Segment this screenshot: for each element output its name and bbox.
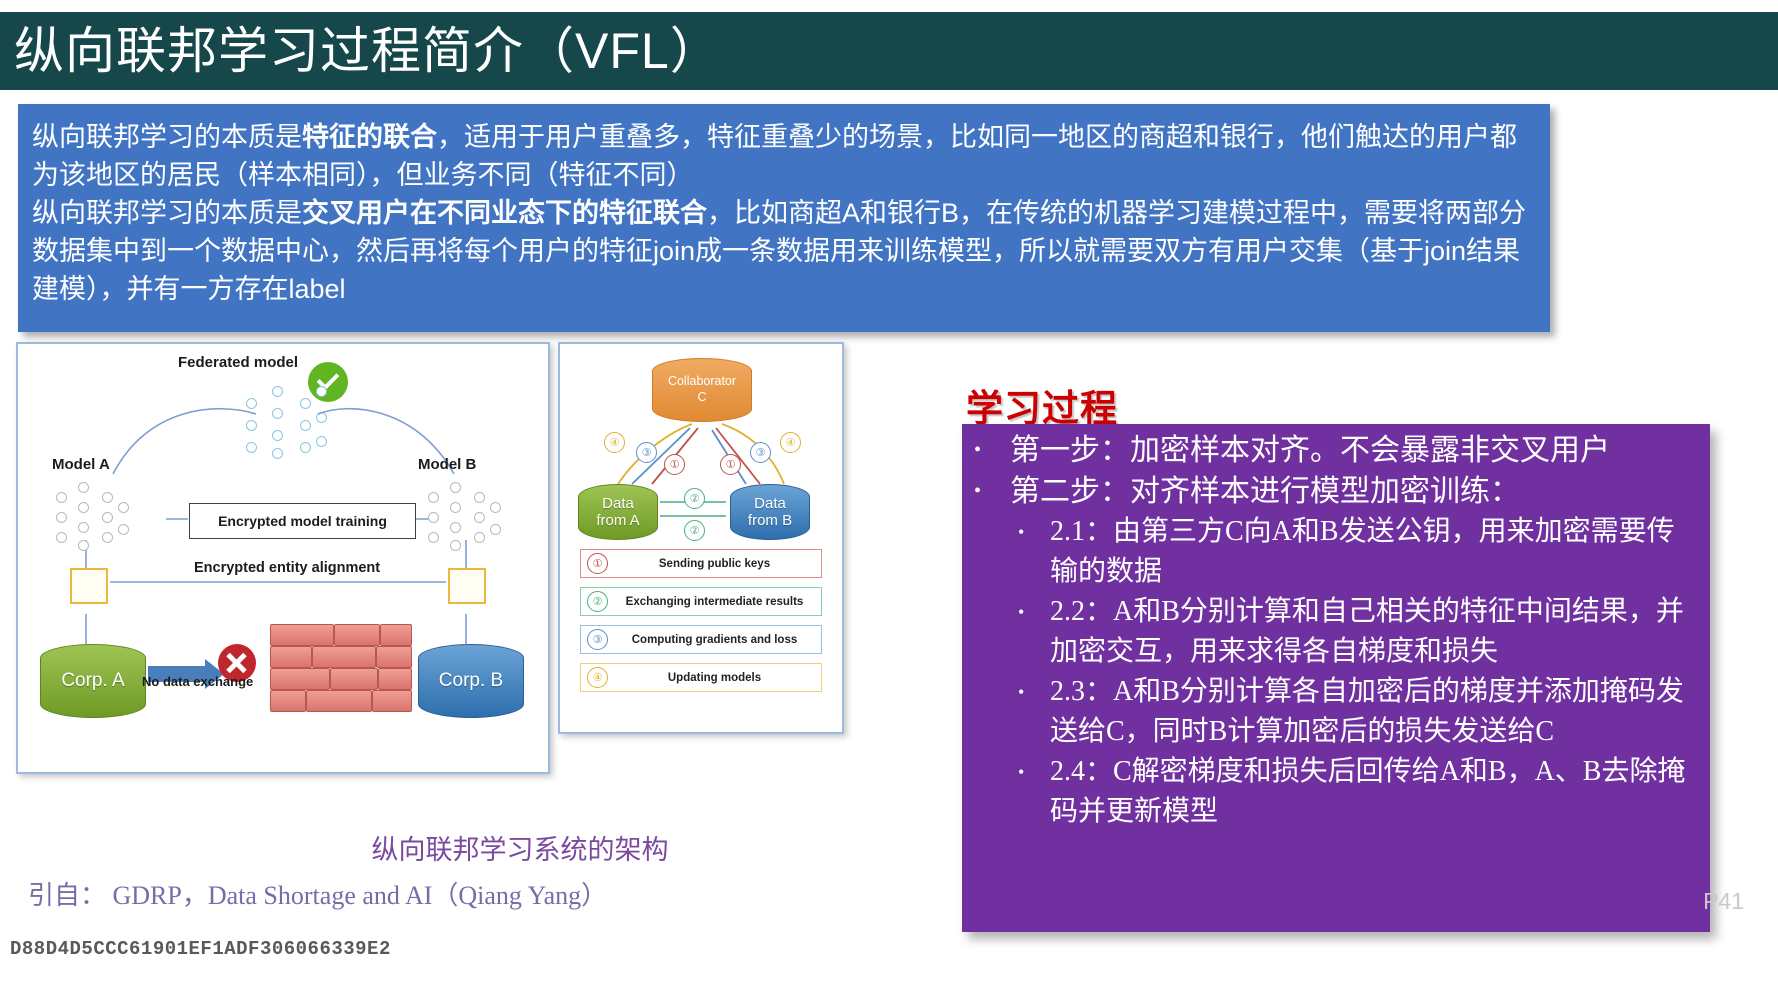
page-title: 纵向联邦学习过程简介（VFL）: [0, 26, 721, 76]
bullet-icon: •: [974, 430, 1010, 471]
model-a-network-icon: [56, 482, 130, 554]
data-from-b-icon: Data from B: [730, 484, 810, 540]
legend-row: ④ Updating models: [580, 663, 822, 692]
step-marker-4-right: ④: [780, 432, 801, 453]
summary-panel: 纵向联邦学习的本质是特征的联合，适用于用户重叠多，特征重叠少的场景，比如同一地区…: [18, 104, 1550, 332]
process-item-step2-3: • 2.3：A和B分别计算各自加密后的梯度并添加掩码发送给C，同时B计算加密后的…: [974, 672, 1698, 752]
model-a-label: Model A: [52, 456, 110, 473]
process-item-text: 2.1：由第三方C向A和B发送公钥，用来加密需要传输的数据: [1050, 512, 1698, 592]
learning-process-panel: • 第一步：加密样本对齐。不会暴露非交叉用户 • 第二步：对齐样本进行模型加密训…: [962, 424, 1710, 932]
corp-a-database-icon: Corp. A: [40, 644, 146, 718]
process-item-step2-1: • 2.1：由第三方C向A和B发送公钥，用来加密需要传输的数据: [974, 512, 1698, 592]
legend-marker-2: ②: [587, 591, 608, 612]
summary-line1-pre: 纵向联邦学习的本质是: [32, 122, 302, 152]
bullet-icon: •: [1018, 672, 1050, 752]
legend-text-2: Exchanging intermediate results: [608, 596, 821, 608]
step-marker-3-left: ③: [636, 442, 657, 463]
legend-row: ② Exchanging intermediate results: [580, 587, 822, 616]
figure-caption: 纵向联邦学习系统的架构: [310, 828, 730, 867]
vfl-protocol-figure: Collaborator C ④ ③ ① ① ③ ④ ② ② Data from…: [558, 342, 844, 734]
data-b-line-2: from B: [748, 512, 792, 529]
process-item-text: 第二步：对齐样本进行模型加密训练：: [1010, 471, 1520, 512]
step-marker-1-left: ①: [664, 454, 685, 475]
summary-line1-bold: 特征的联合: [302, 122, 437, 152]
step-marker-4-left: ④: [604, 432, 625, 453]
legend-row: ③ Computing gradients and loss: [580, 625, 822, 654]
bullet-icon: •: [1018, 512, 1050, 592]
step-marker-2-bottom: ②: [684, 520, 705, 541]
step-marker-2-top: ②: [684, 488, 705, 509]
slide-title-bar: 纵向联邦学习过程简介（VFL）: [0, 12, 1778, 90]
encrypted-model-training-box: Encrypted model training: [189, 503, 416, 539]
corp-b-database-icon: Corp. B: [418, 644, 524, 718]
step-marker-1-right: ①: [720, 454, 741, 475]
legend-text-4: Updating models: [608, 672, 821, 684]
process-item-step2-2: • 2.2：A和B分别计算和自己相关的特征中间结果，并加密交互，用来求得各自梯度…: [974, 592, 1698, 672]
bullet-icon: •: [1018, 592, 1050, 672]
process-item-text: 2.3：A和B分别计算各自加密后的梯度并添加掩码发送给C，同时B计算加密后的损失…: [1050, 672, 1698, 752]
data-a-line-1: Data: [602, 495, 634, 512]
page-number: P41: [1703, 888, 1744, 915]
process-item-step1: • 第一步：加密样本对齐。不会暴露非交叉用户: [974, 430, 1698, 471]
legend-marker-4: ④: [587, 667, 608, 688]
watermark-hash: D88D4D5CCC61901EF1ADF306066339E2: [10, 938, 391, 960]
no-data-exchange-label: No data exchange: [142, 674, 253, 689]
summary-line2-bold: 交叉用户在不同业态下的特征联合: [302, 198, 707, 228]
step-marker-3-right: ③: [750, 442, 771, 463]
process-item-text: 2.2：A和B分别计算和自己相关的特征中间结果，并加密交互，用来求得各自梯度和损…: [1050, 592, 1698, 672]
summary-paragraph-2: 纵向联邦学习的本质是交叉用户在不同业态下的特征联合，比如商超A和银行B，在传统的…: [18, 194, 1550, 308]
process-item-step2: • 第二步：对齐样本进行模型加密训练：: [974, 471, 1698, 512]
legend-marker-3: ③: [587, 629, 608, 650]
data-b-line-1: Data: [754, 495, 786, 512]
document-stack-icon-b: [448, 568, 486, 604]
document-stack-icon-a: [70, 568, 108, 604]
model-b-label: Model B: [418, 456, 476, 473]
data-from-a-icon: Data from A: [578, 484, 658, 540]
legend-text-3: Computing gradients and loss: [608, 634, 821, 646]
data-a-line-2: from A: [596, 512, 639, 529]
source-citation: 引自： GDRP，Data Shortage and AI（Qiang Yang…: [28, 875, 607, 912]
process-item-text: 第一步：加密样本对齐。不会暴露非交叉用户: [1010, 430, 1610, 471]
model-b-network-icon: [428, 482, 502, 554]
bullet-icon: •: [1018, 752, 1050, 832]
summary-line2-pre: 纵向联邦学习的本质是: [32, 198, 302, 228]
protocol-legend: ① Sending public keys ② Exchanging inter…: [580, 549, 822, 701]
vfl-architecture-figure: Federated model Model A Model B Encrypte…: [16, 342, 550, 774]
summary-paragraph-1: 纵向联邦学习的本质是特征的联合，适用于用户重叠多，特征重叠少的场景，比如同一地区…: [18, 104, 1550, 194]
bullet-icon: •: [974, 471, 1010, 512]
legend-text-1: Sending public keys: [608, 558, 821, 570]
process-item-step2-4: • 2.4：C解密梯度和损失后回传给A和B，A、B去除掩码并更新模型: [974, 752, 1698, 832]
legend-marker-1: ①: [587, 553, 608, 574]
encrypted-entity-alignment-label: Encrypted entity alignment: [194, 560, 380, 576]
legend-row: ① Sending public keys: [580, 549, 822, 578]
firewall-brick-icon: [270, 624, 410, 720]
process-item-text: 2.4：C解密梯度和损失后回传给A和B，A、B去除掩码并更新模型: [1050, 752, 1698, 832]
